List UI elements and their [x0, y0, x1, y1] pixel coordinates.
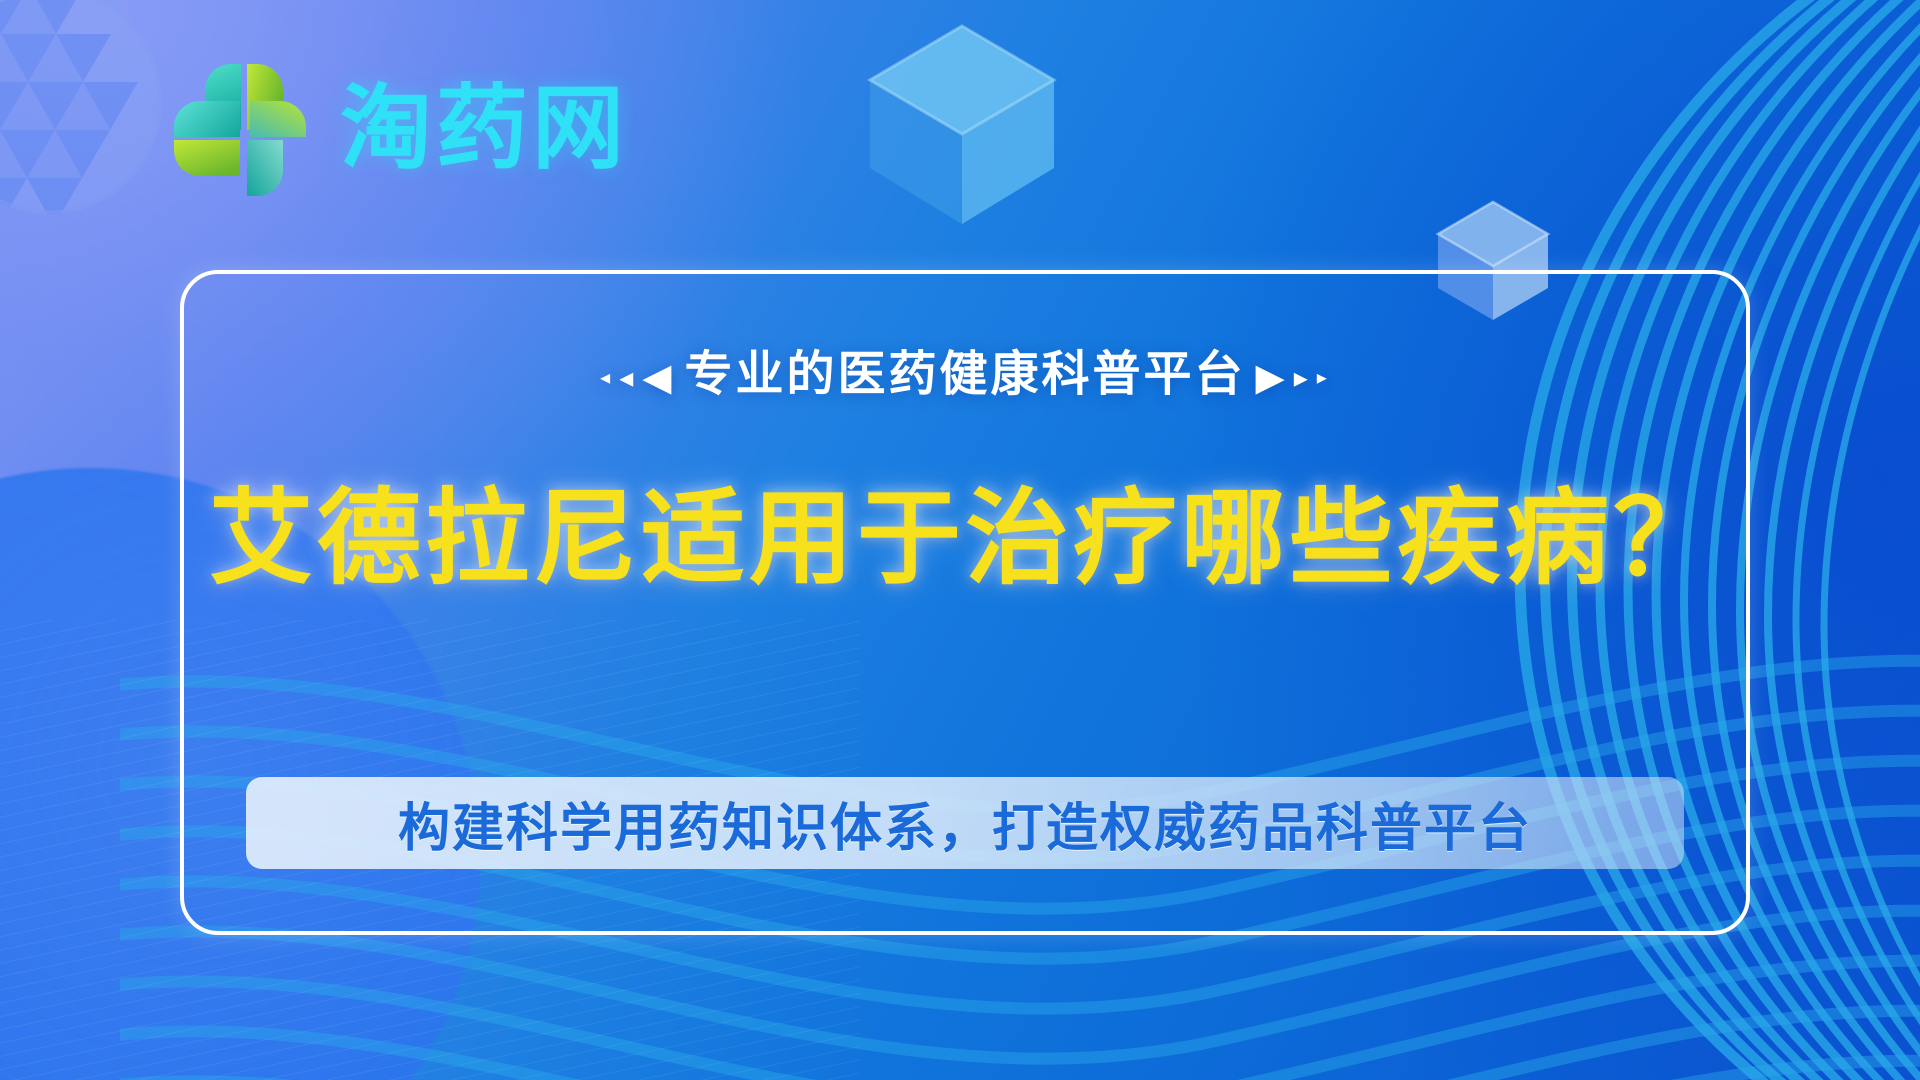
left-marker-2-icon: ◂ [619, 361, 636, 394]
banner-canvas: 淘药网 ◂◂◀专业的医药健康科普平台▶▸▸ 艾德拉尼适用于治疗哪些疾病？ 构建科… [0, 0, 1920, 1080]
pinwheel-cross-leaf-logo-icon [168, 58, 310, 200]
left-marker-1-icon: ◂ [600, 365, 613, 390]
content-frame: ◂◂◀专业的医药健康科普平台▶▸▸ 艾德拉尼适用于治疗哪些疾病？ 构建科学用药知… [180, 270, 1750, 935]
isometric-cube-icon [862, 18, 1062, 230]
faceted-circle-icon [0, 0, 164, 216]
left-marker-3-icon: ◀ [642, 355, 674, 400]
tagline: ◂◂◀专业的医药健康科普平台▶▸▸ [184, 334, 1746, 404]
slogan-banner: 构建科学用药知识体系，打造权威药品科普平台 [246, 777, 1684, 869]
brand-logo[interactable]: 淘药网 [168, 58, 628, 200]
tagline-text: 专业的医药健康科普平台 [684, 348, 1245, 401]
right-marker-1-icon: ▶ [1256, 355, 1288, 400]
page-title: 艾德拉尼适用于治疗哪些疾病？ [184, 482, 1746, 596]
right-marker-2-icon: ▸ [1294, 361, 1311, 394]
right-marker-3-icon: ▸ [1317, 365, 1330, 390]
brand-name: 淘药网 [340, 83, 628, 175]
slogan-text: 构建科学用药知识体系，打造权威药品科普平台 [398, 786, 1532, 861]
